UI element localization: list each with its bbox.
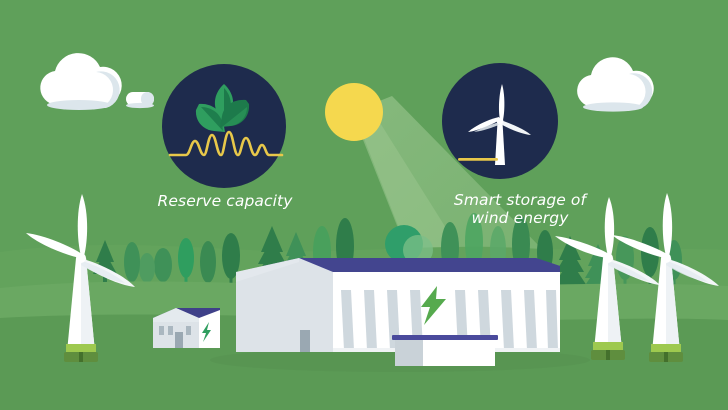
illustration-scene: Reserve capacity Smart storage ofwind en…: [0, 0, 728, 410]
wind-turbine-icon: [612, 193, 719, 362]
wind-turbine-icon: [555, 197, 660, 360]
foreground-turbines: [0, 0, 728, 410]
wind-turbine-icon: [26, 194, 135, 362]
